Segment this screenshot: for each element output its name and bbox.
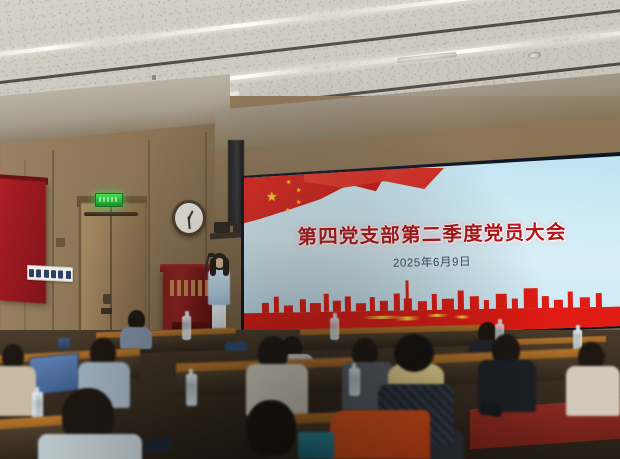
coffee-cup — [58, 338, 70, 349]
water-bottle — [349, 368, 360, 396]
flag-star-icon: ★ — [296, 188, 301, 194]
door-center-seam — [110, 203, 112, 351]
projection-screen[interactable]: ★ ★ ★ ★ ★ 第四党支部第二季度党员大会 2025年6月9日 — [244, 156, 620, 340]
water-bottle — [186, 374, 197, 406]
flag-star-icon: ★ — [296, 200, 301, 206]
wall-panel-seam — [148, 140, 150, 355]
switch-toggle[interactable] — [29, 268, 34, 276]
switch-toggle[interactable] — [36, 269, 41, 277]
desk-item — [225, 342, 247, 351]
switch-toggle[interactable] — [66, 270, 71, 278]
audience-head — [246, 400, 296, 456]
draped-jacket — [330, 410, 430, 459]
photo-scene: ★ ★ ★ ★ ★ 第四党支部第二季度党员大会 2025年6月9日 — [0, 0, 620, 459]
wall-fixture — [56, 238, 65, 247]
audience-torso — [566, 366, 620, 416]
ceiling-fixture-nub — [152, 75, 156, 80]
slide-date: 2025年6月9日 — [244, 250, 620, 273]
clock-minute-hand — [188, 218, 190, 229]
recycle-bin — [298, 432, 334, 459]
door-lock[interactable] — [101, 308, 112, 314]
switch-toggle[interactable] — [51, 270, 56, 278]
switch-toggle[interactable] — [58, 270, 63, 278]
flag-star-icon: ★ — [266, 190, 278, 203]
red-wall-banner — [0, 178, 46, 303]
audience-torso — [120, 327, 152, 349]
door-push-bar[interactable] — [84, 212, 138, 216]
water-bottle — [330, 318, 339, 340]
slide-title: 第四党支部第二季度党员大会 — [244, 214, 620, 250]
wall-panel-seam — [52, 150, 54, 355]
presenter-hair — [210, 258, 216, 276]
flag-star-icon: ★ — [285, 208, 290, 214]
audience-torso — [38, 434, 142, 459]
wall-clock — [172, 200, 206, 236]
clock-center-pin — [188, 217, 191, 220]
light-switch-plate[interactable] — [27, 265, 73, 282]
exit-sign-icon — [95, 193, 123, 207]
door-handle[interactable] — [103, 294, 111, 304]
water-bottle — [182, 316, 191, 340]
audience-head — [394, 334, 434, 372]
audience-torso — [0, 366, 36, 416]
presenter-hair — [223, 258, 229, 276]
shelf-object — [214, 222, 230, 233]
switch-toggle[interactable] — [44, 269, 49, 277]
flag-star-icon: ★ — [286, 180, 291, 186]
